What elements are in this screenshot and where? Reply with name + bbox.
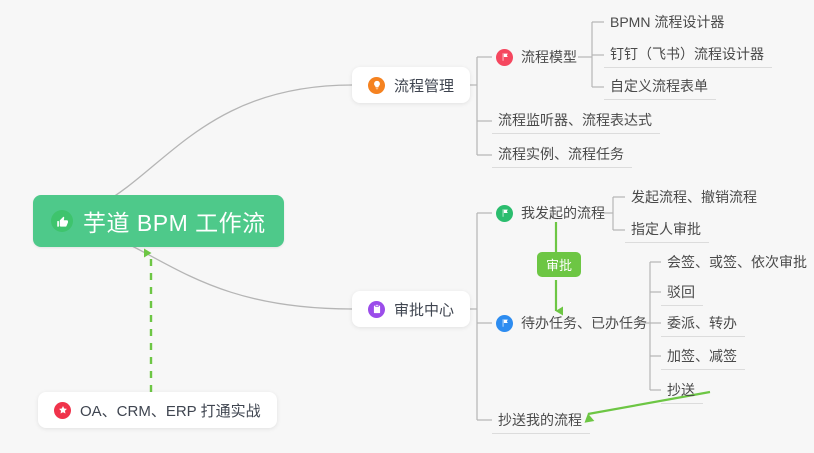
leaf-node-cc-to-me-process[interactable]: 抄送我的流程 xyxy=(492,407,590,434)
leaf-node-bpmn-designer[interactable]: BPMN 流程设计器 xyxy=(604,9,732,36)
topic-node-process-model[interactable]: 流程模型 xyxy=(492,44,581,70)
leaf-node-dingtalk-feishu-designer[interactable]: 钉钉（飞书）流程设计器 xyxy=(604,41,772,68)
leaf-node-reject[interactable]: 驳回 xyxy=(661,279,703,306)
lightbulb-icon xyxy=(368,77,385,94)
root-label: 芋道 BPM 工作流 xyxy=(83,204,266,238)
topic-label-todo-done-tasks: 待办任务、已办任务 xyxy=(521,313,647,333)
topic-label-my-started-process: 我发起的流程 xyxy=(521,203,605,223)
integration-note-label: OA、CRM、ERP 打通实战 xyxy=(80,400,261,421)
integration-note-node[interactable]: OA、CRM、ERP 打通实战 xyxy=(38,392,277,428)
leaf-node-process-listener-expression[interactable]: 流程监听器、流程表达式 xyxy=(492,107,660,134)
topic-node-my-started-process[interactable]: 我发起的流程 xyxy=(492,200,609,226)
topic-node-todo-done-tasks[interactable]: 待办任务、已办任务 xyxy=(492,310,651,336)
branch-label-approval-center: 审批中心 xyxy=(394,299,454,320)
leaf-node-assignee-approval[interactable]: 指定人审批 xyxy=(625,216,709,243)
green-flag-icon xyxy=(496,205,513,222)
thumbs-up-icon xyxy=(51,210,73,232)
leaf-node-countersign-or-sequential[interactable]: 会签、或签、依次审批 xyxy=(661,249,814,276)
leaf-node-start-cancel-process[interactable]: 发起流程、撤销流程 xyxy=(625,184,765,211)
root-node[interactable]: 芋道 BPM 工作流 xyxy=(33,195,284,247)
topic-label-process-model: 流程模型 xyxy=(521,47,577,67)
branch-node-process-management[interactable]: 流程管理 xyxy=(352,67,470,103)
approval-note-badge[interactable]: 审批 xyxy=(537,252,581,277)
leaf-node-add-remove-sign[interactable]: 加签、减签 xyxy=(661,343,745,370)
star-icon xyxy=(54,402,71,419)
leaf-node-carbon-copy[interactable]: 抄送 xyxy=(661,377,703,404)
blue-flag-icon xyxy=(496,315,513,332)
red-flag-icon xyxy=(496,49,513,66)
leaf-node-custom-process-form[interactable]: 自定义流程表单 xyxy=(604,73,716,100)
leaf-node-process-instance-task[interactable]: 流程实例、流程任务 xyxy=(492,141,632,168)
branch-label-process-management: 流程管理 xyxy=(394,75,454,96)
mindmap-canvas: 芋道 BPM 工作流 流程管理 流程模型 BPMN 流程设计器 钉钉（飞书）流程… xyxy=(0,0,814,453)
clipboard-icon xyxy=(368,301,385,318)
branch-node-approval-center[interactable]: 审批中心 xyxy=(352,291,470,327)
leaf-node-delegate-transfer[interactable]: 委派、转办 xyxy=(661,310,745,337)
